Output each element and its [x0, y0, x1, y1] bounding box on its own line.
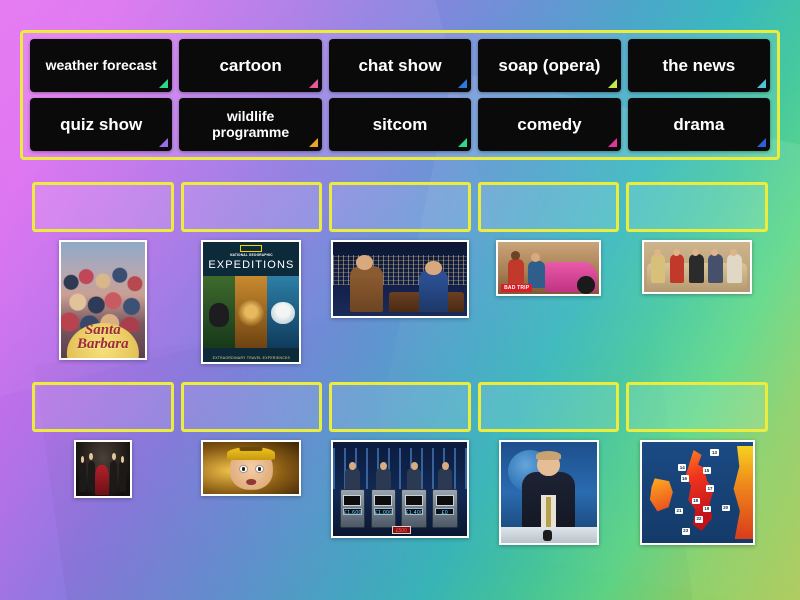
word-tile-label: wildlife programme: [187, 109, 313, 140]
drama-figure-4: [119, 461, 126, 491]
temperature-marker: 19: [703, 506, 711, 513]
temperature-marker: 20: [722, 505, 730, 512]
actor-one-head: [511, 251, 520, 260]
tile-corner-marker: [159, 79, 168, 88]
bad-trip-comedy-still[interactable]: BAD TRIP: [496, 240, 601, 296]
podium-1-score: £1,600: [343, 508, 362, 515]
drop-zone-sitcom[interactable]: [626, 182, 768, 232]
red-gown-figure: [95, 465, 109, 495]
temperature-marker: 17: [706, 485, 714, 492]
tile-corner-marker: [309, 138, 318, 147]
word-tile-the-news[interactable]: the news: [628, 39, 770, 92]
santa-barbara-soap-poster[interactable]: Santa Barbara: [59, 240, 147, 360]
tile-corner-marker: [159, 138, 168, 147]
drop-zone-quiz-show[interactable]: [329, 382, 471, 432]
sitcom-character-2: [670, 254, 685, 283]
answer-cell-sitcom: [626, 182, 768, 360]
drama-head-4: [121, 456, 125, 463]
answer-row-2: £1,600 £1,000 £1,400: [32, 382, 768, 560]
gorilla-panel: [203, 276, 235, 348]
answer-cell-drama: [32, 382, 174, 560]
word-bank: weather forecast cartoon chat show soap …: [20, 30, 780, 160]
podium-3-score: £1,400: [405, 508, 424, 515]
cartoon-mouth: [247, 479, 257, 484]
tile-corner-marker: [608, 138, 617, 147]
tile-corner-marker: [458, 138, 467, 147]
podium-1: £1,600: [340, 489, 365, 528]
word-tile-wildlife-programme[interactable]: wildlife programme: [179, 98, 321, 151]
poster-title: Santa Barbara: [61, 323, 145, 352]
word-bank-row-1: weather forecast cartoon chat show soap …: [30, 39, 770, 92]
polar-bear-panel: [267, 276, 299, 348]
word-tile-drama[interactable]: drama: [628, 98, 770, 151]
word-tile-sitcom[interactable]: sitcom: [329, 98, 471, 151]
cap-brim: [240, 447, 263, 451]
gorilla-icon: [209, 303, 229, 327]
polar-bear-icon: [271, 302, 295, 324]
temperature-marker: 22: [695, 516, 703, 523]
cover-footer: EXTRAORDINARY TRAVEL EXPERIENCES: [203, 356, 299, 360]
guest-figure: [350, 266, 382, 312]
answer-cell-quiz-show: £1,600 £1,000 £1,400: [329, 382, 471, 560]
answer-cell-weather: 13 14 15 16 17 18 19 20 21 22 23: [626, 382, 768, 560]
answer-cell-chat-show: [329, 182, 471, 360]
answer-cell-cartoon: [181, 382, 323, 560]
word-tile-cartoon[interactable]: cartoon: [179, 39, 321, 92]
drop-zone-wildlife[interactable]: [181, 182, 323, 232]
national-geographic-logo-icon: [240, 245, 262, 252]
media-wrap: [329, 240, 471, 360]
contestant-4-head: [442, 462, 449, 470]
car-wheel: [577, 276, 595, 294]
tile-corner-marker: [757, 138, 766, 147]
drama-figure-1: [79, 461, 86, 491]
lion-panel: [235, 276, 267, 348]
tile-corner-marker: [458, 79, 467, 88]
sitcom-character-5: [727, 254, 742, 283]
tile-corner-marker: [309, 79, 318, 88]
drama-figure-2: [88, 461, 95, 491]
sitcom-family-on-sofa[interactable]: [642, 240, 752, 294]
sitcom-character-4: [708, 254, 723, 283]
uk-weather-map[interactable]: 13 14 15 16 17 18 19 20 21 22 23: [640, 440, 755, 545]
late-night-chat-show-interview[interactable]: [331, 240, 469, 318]
temperature-marker: 23: [682, 528, 690, 535]
podium-1-screen: [343, 495, 361, 506]
word-tile-weather-forecast[interactable]: weather forecast: [30, 39, 172, 92]
drop-zone-news[interactable]: [478, 382, 620, 432]
center-score-display: £500: [392, 526, 411, 534]
podium-3-screen: [405, 495, 423, 506]
word-tile-label: sitcom: [373, 115, 428, 134]
word-tile-label: the news: [662, 56, 735, 75]
tile-corner-marker: [757, 79, 766, 88]
host-head: [425, 261, 441, 275]
sitcom-character-1: [651, 254, 666, 283]
sitcom-head-2: [673, 249, 680, 257]
temperature-marker: 18: [692, 498, 700, 505]
cartoon-pupil-left: [242, 467, 245, 470]
word-tile-label: weather forecast: [46, 58, 157, 74]
anchor-hair: [536, 451, 561, 460]
media-wrap: £1,600 £1,000 £1,400: [329, 440, 471, 560]
media-wrap: [626, 240, 768, 360]
contestant-4: [438, 468, 453, 489]
podium-2-screen: [374, 495, 392, 506]
media-wrap: [478, 440, 620, 560]
podium-2-score: £1,000: [374, 508, 393, 515]
drop-zone-comedy[interactable]: [478, 182, 620, 232]
podium-4-score: £0: [435, 508, 454, 515]
contestant-1: [345, 468, 360, 489]
answer-cell-soap: Santa Barbara: [32, 182, 174, 360]
answer-cell-news: [478, 382, 620, 560]
answer-cell-wildlife: NATIONAL GEOGRAPHIC EXPEDITIONS EXTRAORD…: [181, 182, 323, 360]
sitcom-head-1: [654, 249, 661, 257]
podium-4-screen: [436, 495, 454, 506]
drop-zone-chat-show[interactable]: [329, 182, 471, 232]
temperature-marker: 15: [703, 467, 711, 474]
podium-3: £1,400: [401, 489, 426, 528]
word-bank-row-2: quiz show wildlife programme sitcom come…: [30, 98, 770, 151]
media-wrap: 13 14 15 16 17 18 19 20 21 22 23: [626, 440, 768, 560]
temperature-marker: 21: [675, 508, 683, 515]
word-tile-label: quiz show: [60, 115, 142, 134]
podium-4: £0: [432, 489, 457, 528]
word-tile-label: chat show: [358, 56, 441, 75]
anchor-tie: [546, 497, 552, 527]
word-tile-comedy[interactable]: comedy: [478, 98, 620, 151]
tile-corner-marker: [608, 79, 617, 88]
answer-cell-comedy: BAD TRIP: [478, 182, 620, 360]
animated-cartoon-boy[interactable]: [201, 440, 301, 496]
word-tile-label: comedy: [517, 115, 581, 134]
drop-zone-weather[interactable]: [626, 382, 768, 432]
contestant-3: [407, 468, 422, 489]
media-wrap: Santa Barbara: [32, 240, 174, 360]
word-tile-label: soap (opera): [498, 56, 600, 75]
drama-figure-3: [110, 461, 117, 491]
drop-zone-soap[interactable]: [32, 182, 174, 232]
word-tile-soap-opera[interactable]: soap (opera): [478, 39, 620, 92]
media-wrap: BAD TRIP: [478, 240, 620, 360]
podium-2: £1,000: [371, 489, 396, 528]
microphone-icon: [543, 530, 553, 541]
contestant-2: [376, 468, 391, 489]
answer-row-1: Santa Barbara NATIONAL GEOGRAPHIC EXPEDI…: [32, 182, 768, 360]
cover-animal-panels: [203, 276, 299, 348]
drop-zone-cartoon[interactable]: [181, 382, 323, 432]
sitcom-character-3: [689, 254, 704, 283]
cover-title: EXPEDITIONS: [203, 259, 299, 271]
activity-canvas: weather forecast cartoon chat show soap …: [0, 0, 800, 600]
film-title-logo: BAD TRIP: [501, 284, 532, 292]
lion-icon: [238, 300, 264, 326]
theatre-drama-scene[interactable]: [74, 440, 132, 498]
actor-one: [508, 259, 524, 288]
drama-head-3: [112, 453, 116, 460]
temperature-marker: 13: [710, 449, 718, 456]
cover-brand: NATIONAL GEOGRAPHIC: [203, 253, 299, 257]
word-tile-chat-show[interactable]: chat show: [329, 39, 471, 92]
word-tile-label: drama: [673, 115, 724, 134]
media-wrap: [181, 440, 323, 560]
host-figure: [419, 270, 448, 311]
word-tile-label: cartoon: [219, 56, 281, 75]
temperature-marker: 14: [678, 464, 686, 471]
quiz-show-contestants[interactable]: £1,600 £1,000 £1,400: [331, 440, 469, 538]
temperature-marker: 16: [681, 475, 689, 482]
media-wrap: NATIONAL GEOGRAPHIC EXPEDITIONS EXTRAORD…: [181, 240, 323, 360]
drop-zone-drama[interactable]: [32, 382, 174, 432]
national-geographic-expeditions-cover[interactable]: NATIONAL GEOGRAPHIC EXPEDITIONS EXTRAORD…: [201, 240, 301, 364]
media-wrap: [32, 440, 174, 560]
word-tile-quiz-show[interactable]: quiz show: [30, 98, 172, 151]
news-anchor-at-desk[interactable]: [499, 440, 599, 545]
